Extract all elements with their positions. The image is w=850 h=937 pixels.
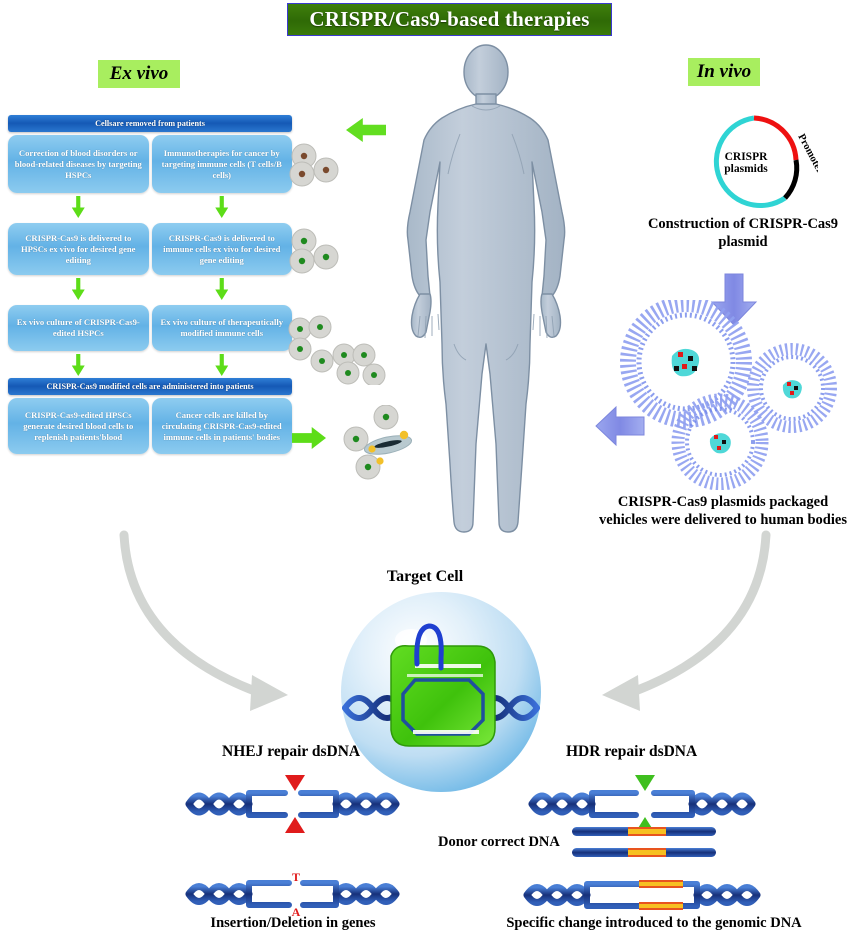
flow-box-2-left[interactable]: CRISPR-Cas9 is delivered to HPSCs ex viv… bbox=[8, 223, 149, 275]
down-arrow-icon bbox=[72, 278, 85, 300]
arrow-cell bbox=[152, 352, 293, 378]
down-arrow-icon bbox=[72, 354, 85, 376]
flow-box-3-right-text: Ex vivo culture of therapeutically modif… bbox=[156, 317, 289, 339]
hdr-repaired-dna bbox=[523, 872, 761, 918]
flow-box-4-right[interactable]: Cancer cells are killed by circulating C… bbox=[152, 398, 293, 454]
flow-arrows-2 bbox=[8, 276, 292, 302]
plasmid-caption: Construction of CRISPR-Cas9 plasmid bbox=[636, 216, 850, 251]
arrow-cell bbox=[152, 194, 293, 220]
flow-box-3-left[interactable]: Ex vivo culture of CRISPR-Cas9-edited HS… bbox=[8, 305, 149, 351]
flow-arrows-3 bbox=[8, 352, 292, 378]
arrow-cell bbox=[8, 276, 149, 302]
plasmid-insert-arc bbox=[785, 160, 797, 198]
purple-left-arrow-icon bbox=[594, 405, 646, 447]
flow-header-bottom-text: CRISPR-Cas9 modified cells are administe… bbox=[46, 382, 253, 391]
hdr-caption-text: Specific change introduced to the genomi… bbox=[506, 915, 801, 931]
nhej-label-text: NHEJ repair dsDNA bbox=[222, 743, 360, 760]
donor-dna-label-text: Donor correct DNA bbox=[438, 834, 560, 850]
flow-header-top: Cellsare removed from patients bbox=[8, 115, 292, 132]
flow-box-1-right[interactable]: Immunotherapies for cancer by targeting … bbox=[152, 135, 293, 193]
donor-correct-dna bbox=[570, 825, 718, 861]
nhej-caption: Insertion/Deletion in genes bbox=[178, 915, 408, 932]
flow-box-3-right[interactable]: Ex vivo culture of therapeutically modif… bbox=[152, 305, 293, 351]
arrow-flowchart-to-body bbox=[292, 427, 326, 449]
in-vivo-label: In vivo bbox=[688, 58, 760, 86]
down-arrow-icon bbox=[215, 278, 228, 300]
ex-vivo-flowchart: Cellsare removed from patients Correctio… bbox=[8, 115, 292, 454]
right-arrow-icon bbox=[292, 427, 326, 449]
cut-site-arrow-top bbox=[285, 775, 305, 791]
arrow-cell bbox=[8, 352, 149, 378]
down-arrow-icon bbox=[215, 354, 228, 376]
flow-row-4: CRISPR-Cas9-edited HPSCs generate desire… bbox=[8, 398, 292, 454]
arrow-body-to-flowchart bbox=[346, 118, 386, 142]
flow-box-4-right-text: Cancer cells are killed by circulating C… bbox=[156, 410, 289, 443]
flow-box-3-left-text: Ex vivo culture of CRISPR-Cas9-edited HS… bbox=[12, 317, 145, 339]
plasmid-center-label-line2: plasmids bbox=[724, 163, 768, 175]
flow-row-3: Ex vivo culture of CRISPR-Cas9-edited HS… bbox=[8, 305, 292, 351]
flow-box-4-left[interactable]: CRISPR-Cas9-edited HPSCs generate desire… bbox=[8, 398, 149, 454]
plasmid-center-label-line1: CRISPR bbox=[725, 151, 769, 163]
cell-cluster-edited-2 bbox=[286, 315, 386, 385]
indel-base-top: T bbox=[292, 870, 300, 884]
crispr-plasmid-diagram: CRISPR plasmids Promoter bbox=[690, 110, 818, 220]
flow-row-2: CRISPR-Cas9 is delivered to HPSCs ex viv… bbox=[8, 223, 292, 275]
ex-vivo-label: Ex vivo bbox=[98, 60, 180, 88]
liposome-vesicles-group bbox=[612, 300, 850, 490]
flow-box-2-right-text: CRISPR-Cas9 is delivered to immune cells… bbox=[156, 233, 289, 266]
arrow-cell bbox=[152, 276, 293, 302]
hdr-caption: Specific change introduced to the genomi… bbox=[458, 915, 850, 932]
flow-arrows-1 bbox=[8, 194, 292, 220]
flow-header-top-text: Cellsare removed from patients bbox=[95, 119, 205, 128]
page-title-text: CRISPR/Cas9-based therapies bbox=[309, 7, 589, 32]
down-arrow-icon bbox=[215, 196, 228, 218]
hdr-cut-arrow-top bbox=[635, 775, 655, 791]
cancer-cell-killing-scene bbox=[340, 405, 425, 480]
arrow-cell bbox=[8, 194, 149, 220]
nhej-indel-dna: T A bbox=[185, 870, 400, 918]
down-arrow-icon bbox=[72, 196, 85, 218]
liposome-medium bbox=[753, 349, 831, 427]
curved-arrow-to-hdr bbox=[530, 515, 780, 715]
flow-box-1-left-text: Correction of blood disorders or blood-r… bbox=[12, 148, 145, 181]
cell-cluster-hspc bbox=[286, 140, 356, 200]
flow-header-bottom: CRISPR-Cas9 modified cells are administe… bbox=[8, 378, 292, 395]
page-title: CRISPR/Cas9-based therapies bbox=[287, 3, 612, 36]
hdr-label-text: HDR repair dsDNA bbox=[566, 743, 697, 760]
target-cell-figure bbox=[337, 588, 545, 796]
target-cell-label: Target Cell bbox=[330, 568, 520, 586]
plasmid-caption-text: Construction of CRISPR-Cas9 plasmid bbox=[648, 216, 838, 250]
target-cell-label-text: Target Cell bbox=[387, 568, 463, 585]
in-vivo-label-text: In vivo bbox=[697, 61, 751, 83]
flow-box-2-left-text: CRISPR-Cas9 is delivered to HPSCs ex viv… bbox=[12, 233, 145, 266]
nhej-cut-dna bbox=[185, 775, 400, 833]
flow-row-1: Correction of blood disorders or blood-r… bbox=[8, 135, 292, 193]
nhej-caption-text: Insertion/Deletion in genes bbox=[210, 915, 375, 931]
nhej-label: NHEJ repair dsDNA bbox=[222, 743, 360, 761]
flow-box-2-right[interactable]: CRISPR-Cas9 is delivered to immune cells… bbox=[152, 223, 293, 275]
flow-box-1-right-text: Immunotherapies for cancer by targeting … bbox=[156, 148, 289, 181]
cut-site-arrow-bottom bbox=[285, 817, 305, 833]
cell-cluster-edited-1 bbox=[286, 225, 356, 287]
hdr-label: HDR repair dsDNA bbox=[566, 743, 697, 761]
donor-dna-label: Donor correct DNA bbox=[438, 834, 560, 851]
flow-box-1-left[interactable]: Correction of blood disorders or blood-r… bbox=[8, 135, 149, 193]
flow-box-4-left-text: CRISPR-Cas9-edited HPSCs generate desire… bbox=[12, 410, 145, 443]
left-arrow-icon bbox=[346, 118, 386, 142]
ex-vivo-label-text: Ex vivo bbox=[110, 63, 169, 85]
